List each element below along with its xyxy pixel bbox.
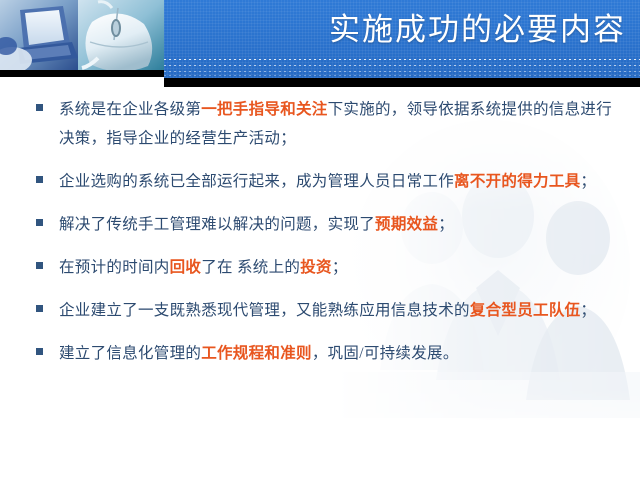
banner-dotted-rule: [164, 75, 640, 76]
bullet-text: 企业建立了一支既熟悉现代管理，又能熟练应用信息技术的复合型员工队伍；: [59, 296, 626, 325]
bullet-highlight-text: 投资: [300, 259, 332, 276]
bullet-square-icon: [36, 305, 43, 312]
banner-dotted-rule: [164, 65, 640, 66]
laptop-photo: [0, 0, 78, 70]
bullet-plain-text: 企业建立了一支既熟悉现代管理，又能熟练应用信息技术的: [59, 302, 470, 319]
bullet-plain-text: 解决了传统手工管理难以解决的问题，实现了: [59, 216, 375, 233]
header-left-black-bar: [0, 70, 164, 77]
bullet-plain-text: ；: [332, 259, 348, 276]
bullet-plain-text: 系统是在企业各级第: [59, 101, 201, 118]
bullet-square-icon: [36, 262, 43, 269]
header-banner: 实施成功的必要内容: [164, 0, 640, 78]
bullet-item: 企业选购的系统已全部运行起来，成为管理人员日常工作离不开的得力工具；: [0, 167, 640, 196]
bullet-text: 解决了传统手工管理难以解决的问题，实现了预期效益；: [59, 210, 626, 239]
bullet-plain-text: ；: [580, 302, 596, 319]
slide-title: 实施成功的必要内容: [329, 4, 626, 56]
bullet-plain-text: ；: [438, 216, 454, 233]
header-photo-strip: [0, 0, 164, 70]
bullet-text: 建立了信息化管理的工作规程和准则，巩固/可持续发展。: [59, 339, 626, 368]
bullet-plain-text: 在预计的时间内: [59, 259, 170, 276]
bullet-highlight-text: 预期效益: [375, 216, 438, 233]
bullet-item: 企业建立了一支既熟悉现代管理，又能熟练应用信息技术的复合型员工队伍；: [0, 296, 640, 325]
bullet-plain-text: 企业选购的系统已全部运行起来，成为管理人员日常工作: [59, 173, 454, 190]
bullet-list: 系统是在企业各级第一把手指导和关注下实施的，领导依据系统提供的信息进行决策，指导…: [0, 95, 640, 382]
bullet-text: 在预计的时间内回收了在 系统上的投资；: [59, 253, 626, 282]
bullet-plain-text: 了在 系统上的: [201, 259, 300, 276]
banner-dotted-rule: [164, 59, 640, 60]
slide-header: 实施成功的必要内容: [0, 0, 640, 88]
bullet-item: 系统是在企业各级第一把手指导和关注下实施的，领导依据系统提供的信息进行决策，指导…: [0, 95, 640, 153]
mouse-photo: [78, 0, 164, 70]
bullet-item: 建立了信息化管理的工作规程和准则，巩固/可持续发展。: [0, 339, 640, 368]
bullet-highlight-text: 复合型员工队伍: [470, 302, 581, 319]
bullet-plain-text: ；: [580, 173, 596, 190]
bullet-highlight-text: 工作规程和准则: [201, 345, 312, 362]
bullet-text: 系统是在企业各级第一把手指导和关注下实施的，领导依据系统提供的信息进行决策，指导…: [59, 95, 626, 153]
bullet-item: 在预计的时间内回收了在 系统上的投资；: [0, 253, 640, 282]
bullet-text: 企业选购的系统已全部运行起来，成为管理人员日常工作离不开的得力工具；: [59, 167, 626, 196]
bullet-item: 解决了传统手工管理难以解决的问题，实现了预期效益；: [0, 210, 640, 239]
bullet-highlight-text: 一把手指导和关注: [201, 101, 327, 118]
bullet-square-icon: [36, 176, 43, 183]
bullet-square-icon: [36, 219, 43, 226]
bullet-plain-text: ，巩固/可持续发展。: [312, 345, 459, 362]
bullet-plain-text: 建立了信息化管理的: [59, 345, 201, 362]
presentation-slide: 实施成功的必要内容 系统是在企业各级第一把手指导和关注下实施的，领导依据系统提供…: [0, 0, 640, 480]
bullet-highlight-text: 回收: [170, 259, 202, 276]
bullet-square-icon: [36, 104, 43, 111]
bullet-square-icon: [36, 348, 43, 355]
bullet-highlight-text: 离不开的得力工具: [454, 173, 580, 190]
header-right-black-bar: [164, 78, 640, 87]
banner-dotted-rule: [164, 71, 640, 72]
